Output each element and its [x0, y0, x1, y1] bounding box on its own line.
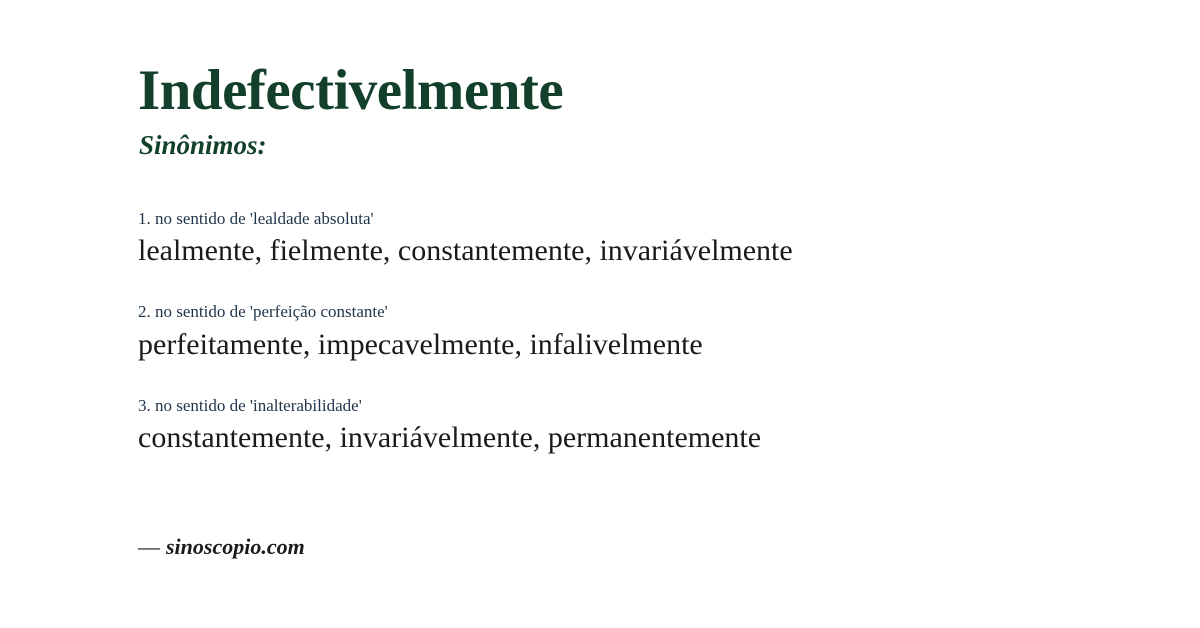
attribution: —sinoscopio.com: [138, 534, 305, 560]
page-title: Indefectivelmente: [138, 62, 563, 119]
section-subtitle: Sinônimos:: [139, 132, 267, 159]
sense-synonyms: constantemente, invariávelmente, permane…: [138, 418, 1138, 457]
sense-label: 1. no sentido de 'lealdade absoluta': [138, 208, 1138, 229]
sense-entry: 3. no sentido de 'inalterabilidade' cons…: [138, 395, 1138, 457]
sense-synonyms: perfeitamente, impecavelmente, infalivel…: [138, 325, 1138, 364]
sense-list: 1. no sentido de 'lealdade absoluta' lea…: [138, 208, 1138, 457]
sense-label: 2. no sentido de 'perfeição constante': [138, 301, 1138, 322]
source-name: sinoscopio.com: [166, 534, 305, 559]
em-dash-icon: —: [138, 534, 166, 559]
sense-entry: 2. no sentido de 'perfeição constante' p…: [138, 301, 1138, 363]
sense-label: 3. no sentido de 'inalterabilidade': [138, 395, 1138, 416]
sense-synonyms: lealmente, fielmente, constantemente, in…: [138, 231, 1138, 270]
sense-entry: 1. no sentido de 'lealdade absoluta' lea…: [138, 208, 1138, 270]
synonym-card: Indefectivelmente Sinônimos: 1. no senti…: [0, 0, 1200, 628]
